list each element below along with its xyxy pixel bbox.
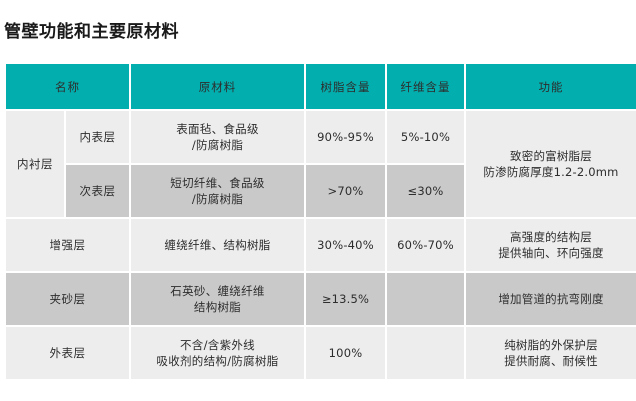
column-header-name: 名称 xyxy=(6,64,129,109)
function-line-2: 防渗防腐厚度1.2-2.0mm xyxy=(469,164,633,180)
resin-content-inner-surface: 90%-95% xyxy=(306,111,385,163)
function-liner-merged: 致密的富树脂层 防渗防腐厚度1.2-2.0mm xyxy=(466,111,636,217)
resin-content-secondary-surface: >70% xyxy=(306,165,385,217)
function-line-1: 增加管道的抗弯刚度 xyxy=(469,291,633,307)
column-header-fiber-content: 纤维含量 xyxy=(387,64,464,109)
fiber-content-outer-surface xyxy=(387,327,464,379)
layer-name-sand-core: 夹砂层 xyxy=(6,273,129,325)
table-body: 内衬层 内表层 表面毡、食品级 /防腐树脂 90%-95% 5%-10% 致密的… xyxy=(6,111,636,379)
function-outer-surface: 纯树脂的外保护层 提供耐腐、耐候性 xyxy=(466,327,636,379)
layer-name-reinforcement: 增强层 xyxy=(6,219,129,271)
table-row: 内衬层 内表层 表面毡、食品级 /防腐树脂 90%-95% 5%-10% 致密的… xyxy=(6,111,636,163)
function-line-1: 致密的富树脂层 xyxy=(469,148,633,164)
material-table-container: 名称 原材料 树脂含量 纤维含量 功能 内衬层 内表层 表面毡、食品级 /防腐树… xyxy=(4,62,632,381)
table-header-row: 名称 原材料 树脂含量 纤维含量 功能 xyxy=(6,64,636,109)
material-line-2: /防腐树脂 xyxy=(134,137,301,153)
function-reinforcement: 高强度的结构层 提供轴向、环向强度 xyxy=(466,219,636,271)
column-header-material: 原材料 xyxy=(131,64,304,109)
fiber-content-reinforcement: 60%-70% xyxy=(387,219,464,271)
material-line-2: 结构树脂 xyxy=(134,299,301,315)
resin-content-reinforcement: 30%-40% xyxy=(306,219,385,271)
material-line-2: /防腐树脂 xyxy=(134,191,301,207)
material-line-1: 缠绕纤维、结构树脂 xyxy=(134,237,301,253)
column-header-resin-content: 树脂含量 xyxy=(306,64,385,109)
material-line-2: 吸收剂的结构/防腐树脂 xyxy=(134,353,301,369)
layer-name-outer-surface: 外表层 xyxy=(6,327,129,379)
column-header-function: 功能 xyxy=(466,64,636,109)
fiber-content-secondary-surface: ≤30% xyxy=(387,165,464,217)
function-line-2: 提供轴向、环向强度 xyxy=(469,245,633,261)
table-row: 外表层 不含/含紫外线 吸收剂的结构/防腐树脂 100% 纯树脂的外保护层 提供… xyxy=(6,327,636,379)
resin-content-sand-core: ≥13.5% xyxy=(306,273,385,325)
page-root: 管壁功能和主要原材料 名称 原材料 树脂含量 纤维含量 功能 xyxy=(0,0,636,401)
material-line-1: 表面毡、食品级 xyxy=(134,121,301,137)
function-sand-core: 增加管道的抗弯刚度 xyxy=(466,273,636,325)
material-inner-surface: 表面毡、食品级 /防腐树脂 xyxy=(131,111,304,163)
table-row: 夹砂层 石英砂、缠绕纤维 结构树脂 ≥13.5% 增加管道的抗弯刚度 xyxy=(6,273,636,325)
resin-content-outer-surface: 100% xyxy=(306,327,385,379)
material-reinforcement: 缠绕纤维、结构树脂 xyxy=(131,219,304,271)
material-table: 名称 原材料 树脂含量 纤维含量 功能 内衬层 内表层 表面毡、食品级 /防腐树… xyxy=(4,62,636,381)
material-line-1: 不含/含紫外线 xyxy=(134,337,301,353)
table-header: 名称 原材料 树脂含量 纤维含量 功能 xyxy=(6,64,636,109)
fiber-content-inner-surface: 5%-10% xyxy=(387,111,464,163)
material-line-1: 短切纤维、食品级 xyxy=(134,175,301,191)
page-title: 管壁功能和主要原材料 xyxy=(4,20,179,44)
function-line-2: 提供耐腐、耐候性 xyxy=(469,353,633,369)
material-line-1: 石英砂、缠绕纤维 xyxy=(134,283,301,299)
function-line-1: 纯树脂的外保护层 xyxy=(469,337,633,353)
fiber-content-sand-core xyxy=(387,273,464,325)
table-row: 增强层 缠绕纤维、结构树脂 30%-40% 60%-70% 高强度的结构层 提供… xyxy=(6,219,636,271)
layer-name-inner-surface: 内表层 xyxy=(66,111,129,163)
material-outer-surface: 不含/含紫外线 吸收剂的结构/防腐树脂 xyxy=(131,327,304,379)
material-sand-core: 石英砂、缠绕纤维 结构树脂 xyxy=(131,273,304,325)
material-secondary-surface: 短切纤维、食品级 /防腐树脂 xyxy=(131,165,304,217)
layer-name-secondary-surface: 次表层 xyxy=(66,165,129,217)
function-line-1: 高强度的结构层 xyxy=(469,229,633,245)
group-label-liner: 内衬层 xyxy=(6,111,64,217)
